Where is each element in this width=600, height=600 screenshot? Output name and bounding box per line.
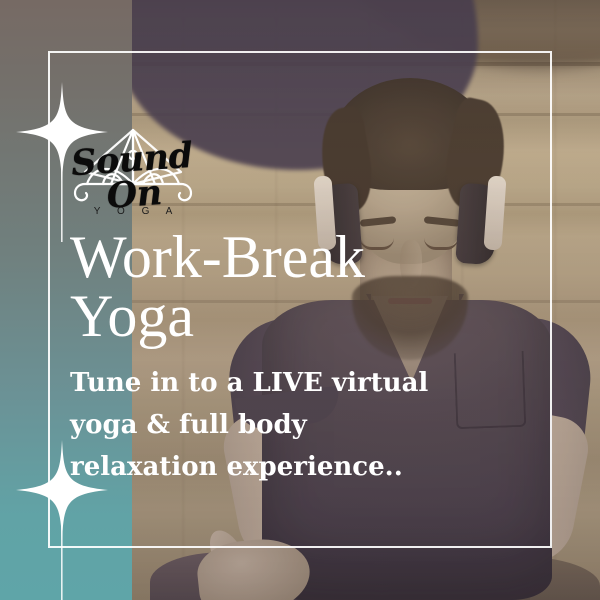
yoga-promo-poster: Sound On Y O G A Work-Break Yoga Tune in… bbox=[0, 0, 600, 600]
brand-logo[interactable]: Sound On Y O G A bbox=[63, 122, 203, 226]
subtext-line-2: yoga & full body bbox=[70, 404, 490, 446]
headline-line-1: Work-Break bbox=[70, 224, 365, 290]
page-title: Work-Break Yoga bbox=[70, 228, 530, 346]
subtext-line-3: relaxation experience.. bbox=[70, 446, 490, 488]
subtext-line-1: Tune in to a LIVE virtual bbox=[70, 362, 490, 404]
promo-subtext: Tune in to a LIVE virtual yoga & full bo… bbox=[70, 362, 490, 488]
logo-sub-name: Y O G A bbox=[63, 206, 203, 217]
headline-line-2: Yoga bbox=[70, 287, 530, 346]
logo-script-name: Sound On bbox=[61, 137, 206, 217]
